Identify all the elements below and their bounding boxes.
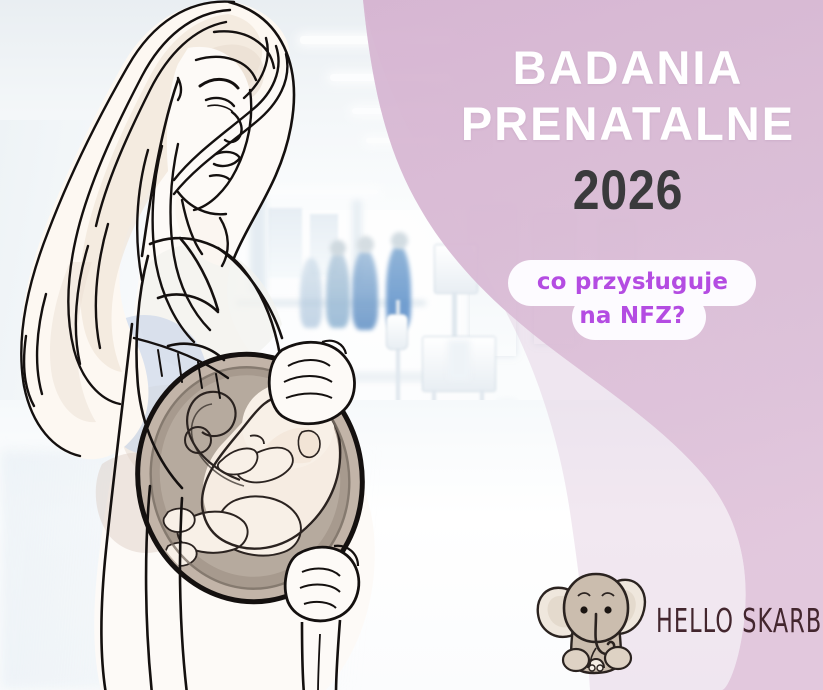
headline-line-2: PRENATALNE	[438, 100, 818, 147]
elephant-foot-left	[563, 649, 589, 671]
headline-block: BADANIA PRENATALNE 2026	[438, 44, 818, 218]
elephant-eye-left	[580, 606, 587, 613]
fetus-ear	[298, 431, 320, 458]
poster-canvas: BADANIA PRENATALNE 2026 co przysługuje n…	[0, 0, 823, 690]
brand-name: HELLO SKARBIE	[656, 605, 812, 638]
elephant-foot-right	[605, 647, 631, 669]
woman-hand-on-belly	[269, 341, 354, 424]
fetus-foot-1	[164, 509, 195, 532]
brand-logo: HELLO SKARBIE	[532, 552, 822, 682]
badge-line-2: na NFZ?	[500, 299, 765, 333]
badge-line-1: co przysługuje	[500, 265, 765, 299]
elephant-icon	[532, 552, 652, 677]
cart-monitor	[434, 244, 478, 294]
nfz-badge: co przysługuje na NFZ?	[500, 258, 765, 348]
headline-line-1: BADANIA	[438, 44, 818, 91]
cart-pole-1	[452, 292, 457, 338]
pregnant-woman-illustration	[0, 0, 412, 690]
headline-year: 2026	[465, 162, 792, 218]
equipment-block-1	[448, 340, 470, 380]
elephant-eye-right	[604, 606, 611, 613]
